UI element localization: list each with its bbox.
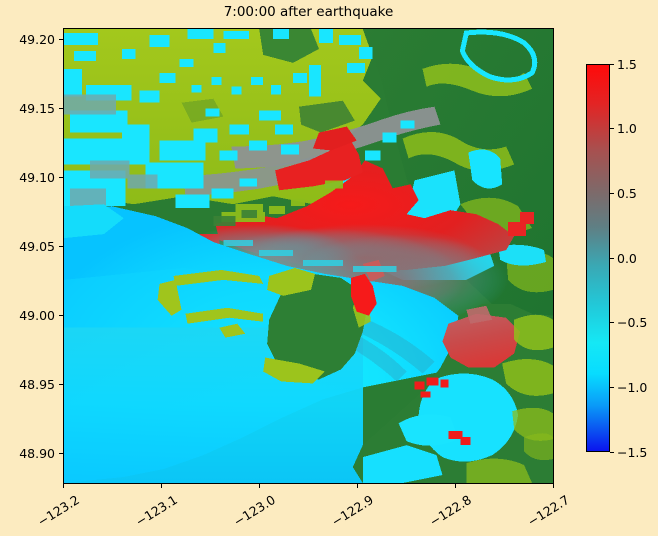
y-axis-tick-label: 48.90: [3, 446, 55, 461]
x-axis-tick-label: −123.1: [125, 492, 180, 534]
colorbar-tick: [610, 258, 614, 259]
x-axis-tick: [161, 484, 162, 488]
colorbar-tick: [610, 64, 614, 65]
x-axis-tick: [357, 484, 358, 488]
colorbar-gradient: [587, 65, 609, 451]
colorbar-tick-label: 0.0: [617, 251, 637, 266]
y-axis-tick: [59, 384, 63, 385]
y-axis-tick: [59, 315, 63, 316]
y-axis-tick-label: 49.10: [3, 170, 55, 185]
y-axis-tick-label: 49.05: [3, 239, 55, 254]
colorbar-tick: [610, 322, 614, 323]
colorbar-tick-label: 0.5: [617, 186, 637, 201]
page-title: 7:00:00 after earthquake: [63, 4, 554, 20]
colorbar-tick: [610, 387, 614, 388]
map-axes[interactable]: [63, 28, 554, 484]
x-axis-tick-label: −122.8: [419, 492, 474, 534]
y-axis-tick: [59, 453, 63, 454]
colorbar-tick: [610, 128, 614, 129]
x-axis-tick: [553, 484, 554, 488]
y-axis-tick: [59, 39, 63, 40]
y-axis-tick-label: 48.95: [3, 377, 55, 392]
colorbar-tick-label: −1.0: [617, 380, 647, 395]
y-axis-tick-label: 49.20: [3, 32, 55, 47]
x-axis-tick-label: −123.0: [223, 492, 278, 534]
figure-canvas: 7:00:00 after earthquake: [0, 0, 658, 536]
x-axis-tick-label: −122.9: [321, 492, 376, 534]
colorbar-tick: [610, 193, 614, 194]
colorbar-tick-label: −0.5: [617, 315, 647, 330]
y-axis-tick: [59, 246, 63, 247]
colorbar-tick-label: 1.5: [617, 57, 637, 72]
x-axis-tick-label: −123.2: [27, 492, 82, 534]
x-axis-tick: [259, 484, 260, 488]
y-axis-tick-label: 49.00: [3, 308, 55, 323]
y-axis-tick: [59, 177, 63, 178]
colorbar-tick-label: 1.0: [617, 121, 637, 136]
y-axis-tick: [59, 108, 63, 109]
colorbar-tick-label: −1.5: [617, 445, 647, 460]
x-axis-tick: [63, 484, 64, 488]
colorbar-tick: [610, 452, 614, 453]
colorbar[interactable]: [586, 64, 610, 452]
heatmap-raster: [64, 29, 553, 483]
x-axis-tick-label: −122.7: [517, 492, 572, 534]
y-axis-tick-label: 49.15: [3, 101, 55, 116]
x-axis-tick: [455, 484, 456, 488]
